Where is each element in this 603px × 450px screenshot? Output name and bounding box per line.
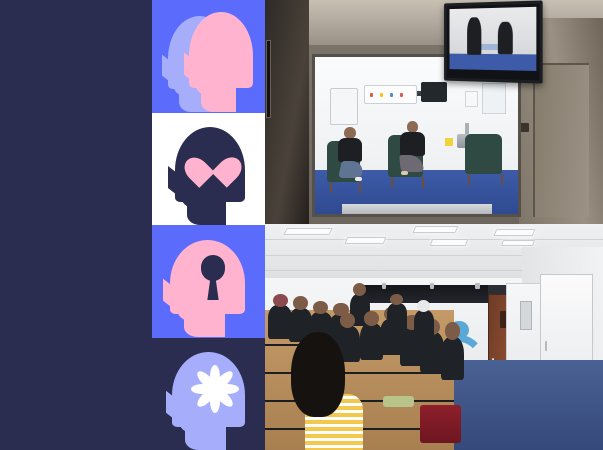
ceiling-light [345,237,387,244]
ceiling-light [412,226,458,233]
wall-monitor [421,82,447,102]
door-handle [545,341,547,351]
ceiling-light [429,239,467,246]
wall-cabinet [482,83,506,113]
flower-icon [193,365,238,415]
tile-dual-heads [152,0,265,113]
yellow-wall-label [445,138,453,146]
tv-screen-feed [449,7,536,71]
corridor-door [533,63,589,217]
long-dark-hair [291,332,345,417]
equipment-panel [364,85,417,104]
tile-heart-head [152,113,265,226]
two-overlapping-heads-icon-front [189,12,252,112]
student-figure [441,337,465,380]
foreground-student [285,332,373,450]
dark-timber-panel [265,0,309,224]
observation-room-photo [265,0,603,224]
person-middle [400,121,424,155]
student-figure [414,310,434,339]
blank-navy-panel [0,0,152,450]
wall-whiteboard [330,88,358,124]
ceiling-light [493,229,535,236]
armchair-right [465,134,502,175]
wall-frame [266,40,271,118]
tiered-classroom-photo [265,224,603,450]
student-figure [387,303,407,330]
keyhole-icon [201,255,226,300]
wall-intercom [520,301,532,330]
floor-cushion [383,396,413,407]
corridor-bench [342,204,492,213]
red-suitcase [420,405,461,443]
wall-tv-monitor [444,1,542,84]
collage-canvas [0,0,603,450]
person-left [338,127,362,161]
heart-icon [193,144,234,178]
ceiling-light [283,228,332,235]
wall-dispenser [465,91,477,107]
tile-keyhole-head [152,225,265,338]
icon-column [152,0,265,450]
tile-flower-head [152,338,265,450]
